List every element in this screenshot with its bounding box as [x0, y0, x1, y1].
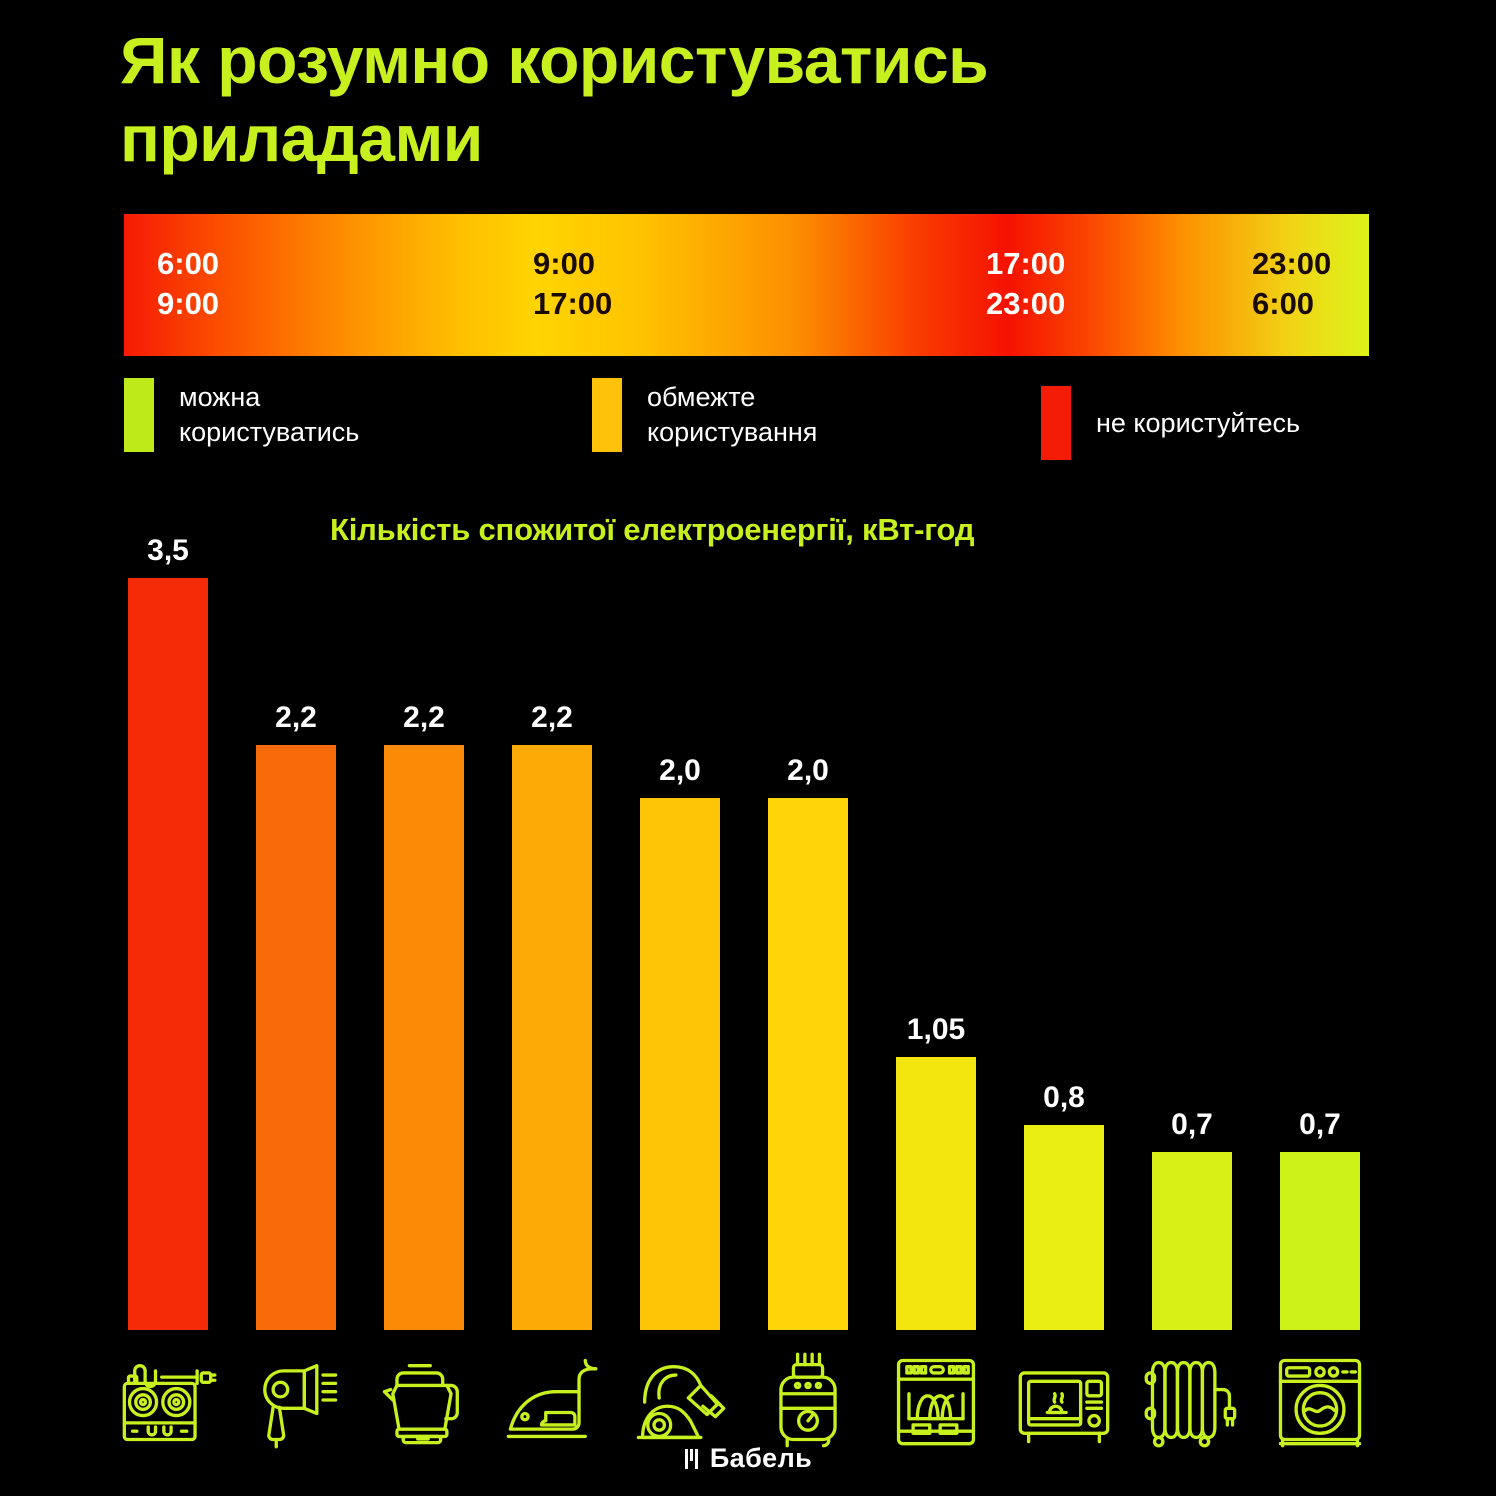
bar-water-heater [768, 798, 848, 1330]
bar-group-electric-kettle: 2,2 [384, 745, 464, 1330]
bar-value-hair-dryer: 2,2 [275, 701, 317, 735]
water-heater-icon [756, 1348, 860, 1452]
hair-dryer-icon [244, 1348, 348, 1452]
bar-group-microwave: 0,8 [1024, 1125, 1104, 1330]
bar-value-electric-kettle: 2,2 [403, 701, 445, 735]
footer-logo: Бабель [0, 1443, 1496, 1474]
vacuum-cleaner-icon [628, 1348, 732, 1452]
bar-group-washing-machine: 0,7 [1280, 1152, 1360, 1330]
bar-value-water-heater: 2,0 [787, 754, 829, 788]
bar-group-hair-dryer: 2,2 [256, 745, 336, 1330]
bar-electric-kettle [384, 745, 464, 1330]
iron-icon [500, 1348, 604, 1452]
electric-stove-icon [116, 1348, 220, 1452]
bar-hair-dryer [256, 745, 336, 1330]
washing-machine-icon [1268, 1348, 1372, 1452]
bar-vacuum-cleaner [640, 798, 720, 1330]
bar-value-washing-machine: 0,7 [1299, 1108, 1341, 1142]
bar-group-electric-stove: 3,5 [128, 578, 208, 1330]
babel-mark-icon [684, 1447, 701, 1471]
dishwasher-icon [884, 1348, 988, 1452]
bar-value-dishwasher: 1,05 [907, 1013, 965, 1047]
bar-group-oil-radiator: 0,7 [1152, 1152, 1232, 1330]
bar-oil-radiator [1152, 1152, 1232, 1330]
bar-value-iron: 2,2 [531, 701, 573, 735]
bar-value-microwave: 0,8 [1043, 1081, 1085, 1115]
bar-group-vacuum-cleaner: 2,0 [640, 798, 720, 1330]
oil-radiator-icon [1140, 1348, 1244, 1452]
bar-value-electric-stove: 3,5 [147, 534, 189, 568]
footer-brand-name: Бабель [710, 1443, 812, 1474]
bar-electric-stove [128, 578, 208, 1330]
infographic-page: Як розумно користуватись приладами 6:00 … [0, 0, 1496, 1496]
microwave-icon [1012, 1348, 1116, 1452]
bar-iron [512, 745, 592, 1330]
bar-group-water-heater: 2,0 [768, 798, 848, 1330]
bar-microwave [1024, 1125, 1104, 1330]
bar-group-iron: 2,2 [512, 745, 592, 1330]
bar-chart: 3,5 [0, 0, 1496, 1496]
bar-washing-machine [1280, 1152, 1360, 1330]
electric-kettle-icon [372, 1348, 476, 1452]
bar-dishwasher [896, 1057, 976, 1330]
bar-value-vacuum-cleaner: 2,0 [659, 754, 701, 788]
bar-value-oil-radiator: 0,7 [1171, 1108, 1213, 1142]
bar-group-dishwasher: 1,05 [896, 1057, 976, 1330]
